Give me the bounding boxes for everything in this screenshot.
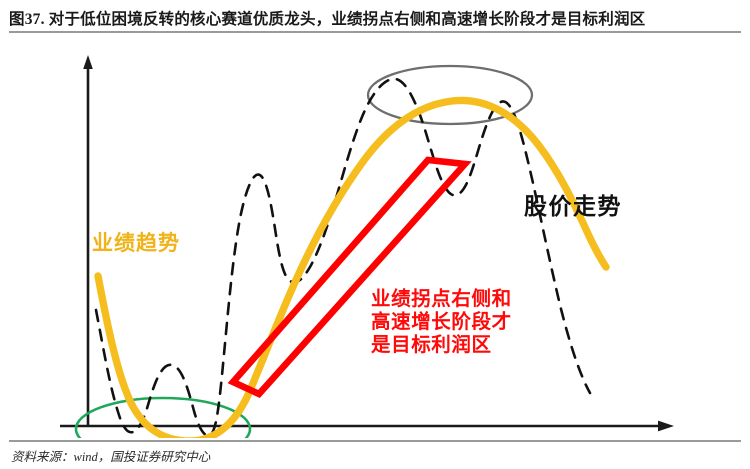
y-axis-arrowhead <box>83 55 93 69</box>
profit-zone-line-2: 高速增长阶段才 <box>371 311 512 334</box>
source-divider <box>9 440 741 442</box>
x-axis-arrowhead <box>658 421 674 432</box>
figure-root: 图37. 对于低位困境反转的核心赛道优质龙头，业绩拐点右侧和高速增长阶段才是目标… <box>0 0 750 469</box>
profit-zone-annotation: 业绩拐点右侧和 高速增长阶段才 是目标利润区 <box>371 288 512 357</box>
profit-zone-line-1: 业绩拐点右侧和 <box>371 288 512 311</box>
performance-trend-label: 业绩趋势 <box>92 232 180 257</box>
performance-trend-curve <box>98 100 606 438</box>
profit-zone-line-3: 是目标利润区 <box>371 334 512 357</box>
figure-caption: 图37. 对于低位困境反转的核心赛道优质龙头，业绩拐点右侧和高速增长阶段才是目标… <box>9 7 741 29</box>
price-trend-label: 股价走势 <box>524 193 622 220</box>
source-note: 资料来源：wind，国投证券研究中心 <box>11 446 210 465</box>
